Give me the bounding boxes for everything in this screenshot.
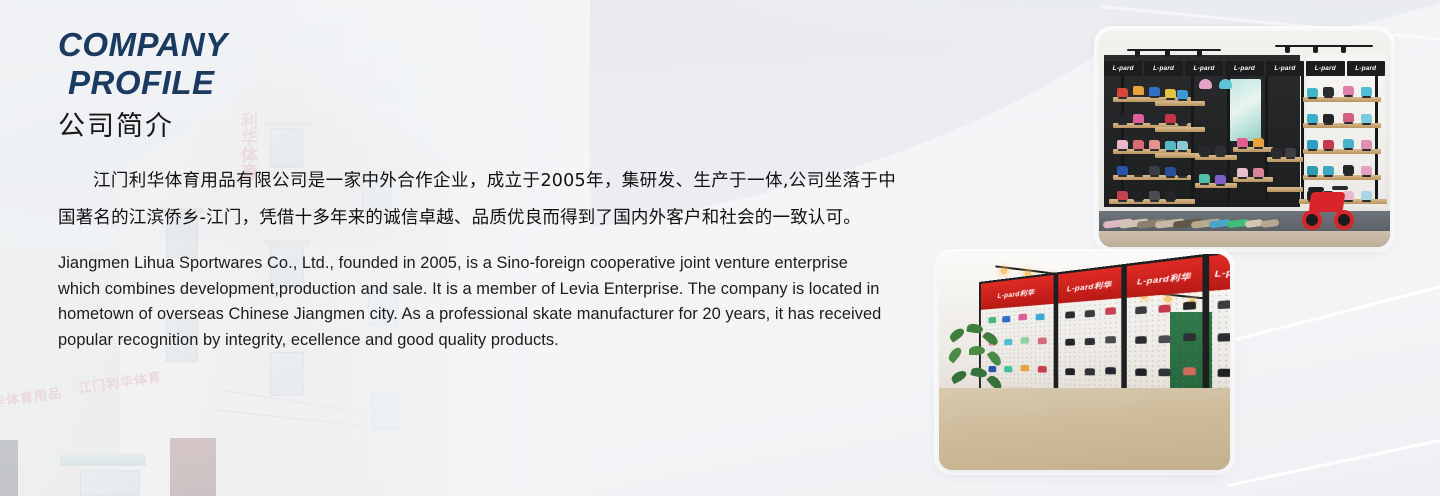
- kids-bike: [1302, 186, 1354, 230]
- page-title-en-line2: PROFILE: [58, 64, 908, 102]
- bay-plaque: 江门利华体育用品有限公司: [1156, 469, 1230, 470]
- photo-retail-display-wall[interactable]: L-pard L-pard L-pard L-pard L-pard L-par…: [1099, 31, 1390, 247]
- profile-paragraph-cn: 江门利华体育用品有限公司是一家中外合作企业，成立于2005年，集研发、生产于一体…: [58, 163, 896, 237]
- profile-paragraph-en: Jiangmen Lihua Sportwares Co., Ltd., fou…: [58, 251, 894, 353]
- page-title-en-line1: COMPANY: [58, 26, 908, 64]
- decorative-swoosh-lower: [1228, 397, 1440, 487]
- bay-header: L-pard利华: [1127, 257, 1203, 298]
- pegboard-rack: L-pard利华: [979, 254, 1230, 470]
- bay-header: L-pard利华: [981, 275, 1054, 310]
- company-profile-banner: 利华体育 利华体育用品 江门利华体育 COMPANY PROFILE 公司简介 …: [0, 0, 1440, 496]
- brand-sign: L-pard: [1225, 61, 1263, 76]
- photo-showroom-wall[interactable]: L-pard利华: [939, 254, 1230, 470]
- profile-text-column: COMPANY PROFILE 公司简介 江门利华体育用品有限公司是一家中外合作…: [58, 26, 908, 353]
- brand-sign-row: L-pard L-pard L-pard L-pard L-pard L-par…: [1104, 61, 1385, 76]
- brand-sign: L-pard: [1104, 61, 1142, 76]
- bay-plaque: 江门利华体育用品有限公司: [981, 448, 1058, 470]
- bay-header: L-pard利华: [1209, 254, 1230, 291]
- bay-header: L-pard利华: [1058, 267, 1121, 304]
- brand-sign: L-pard: [1144, 61, 1182, 76]
- brand-sign: L-pard: [1266, 61, 1304, 76]
- brand-sign: L-pard: [1306, 61, 1344, 76]
- brand-sign: L-pard: [1347, 61, 1385, 76]
- brand-sign: L-pard: [1185, 61, 1223, 76]
- potted-plant: [945, 324, 1007, 456]
- page-title-cn: 公司简介: [58, 111, 908, 143]
